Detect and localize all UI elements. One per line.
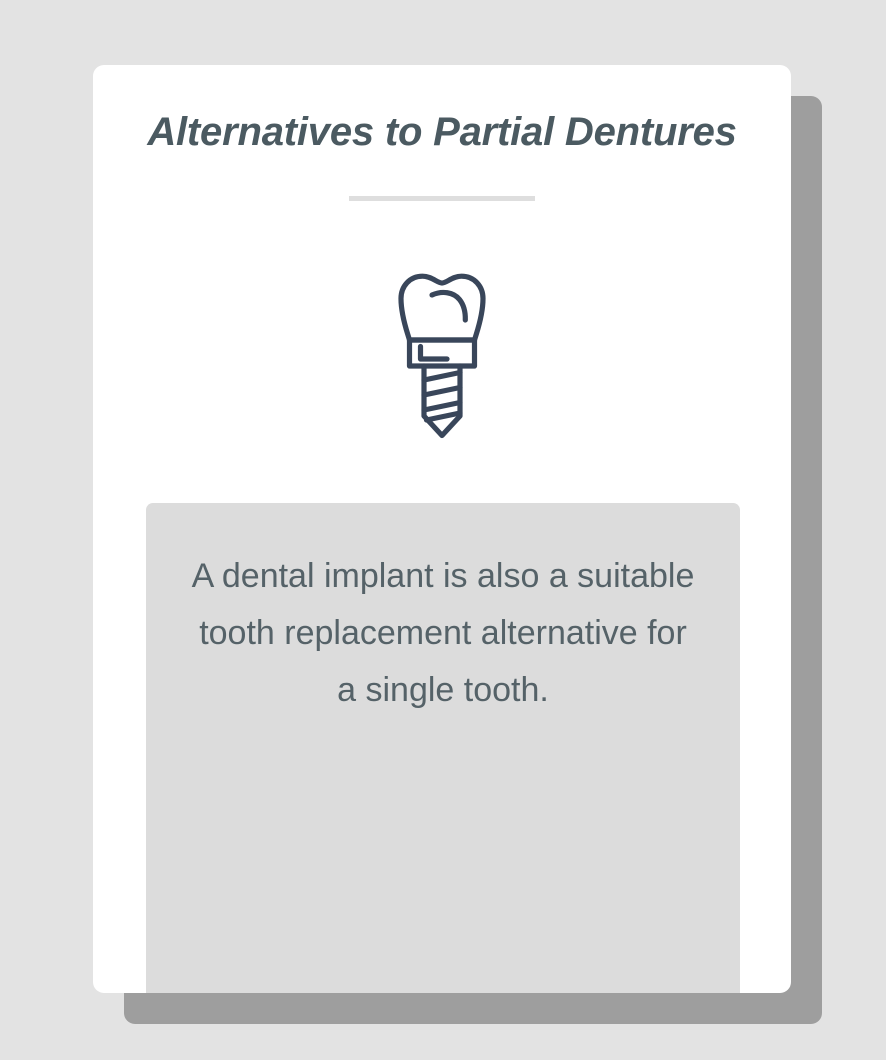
page-title: Alternatives to Partial Dentures	[93, 110, 791, 155]
dental-implant-icon	[393, 272, 491, 444]
content-card: Alternatives to Partial Dentures	[93, 65, 791, 993]
title-divider	[349, 196, 535, 201]
slide-stage: Alternatives to Partial Dentures	[0, 0, 886, 1060]
body-text: A dental implant is also a suitable toot…	[186, 548, 700, 719]
body-text-panel: A dental implant is also a suitable toot…	[146, 503, 740, 993]
